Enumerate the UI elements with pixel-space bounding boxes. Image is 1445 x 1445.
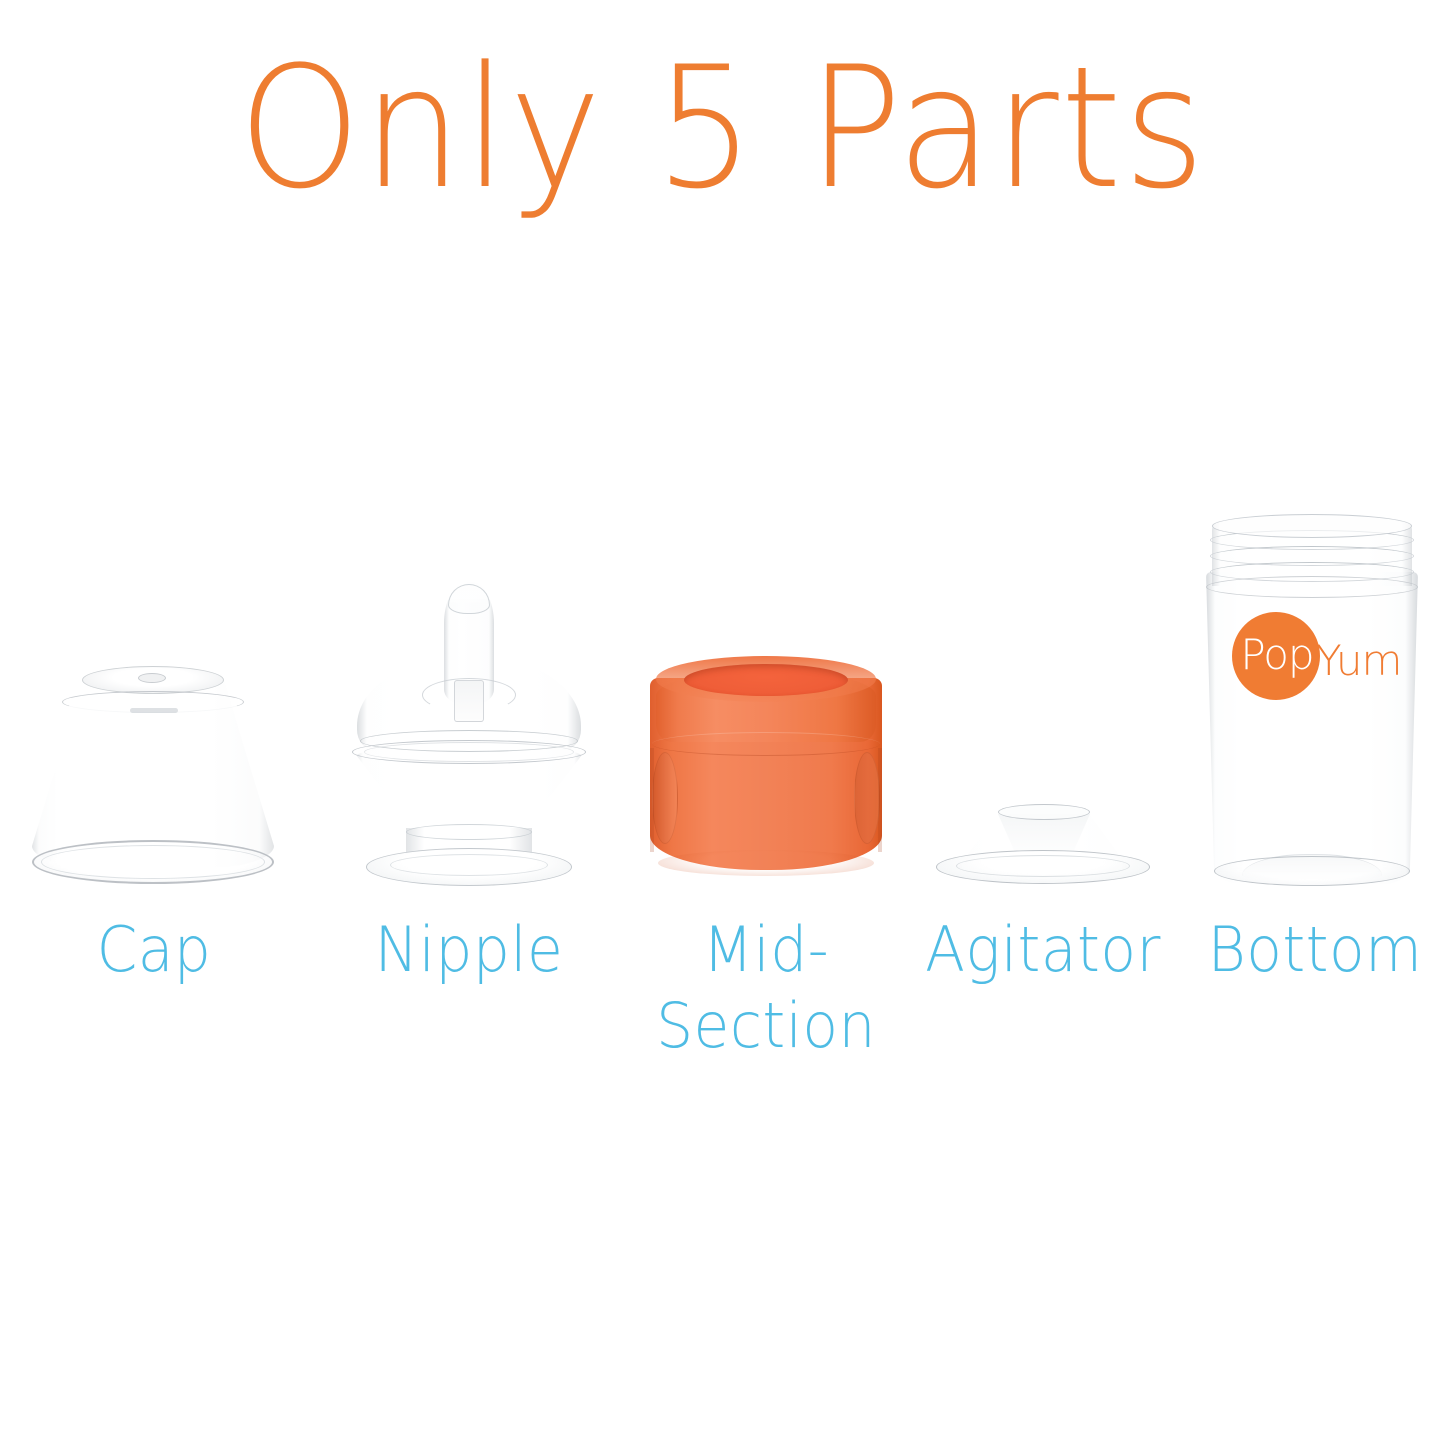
agitator-flange-inner <box>956 855 1130 877</box>
bottle-bottom-icon: Pop Yum <box>1196 520 1428 886</box>
nipple-base-inner-ring <box>390 854 548 876</box>
nipple-valve <box>454 680 484 722</box>
nipple-bowl-rim <box>352 740 586 764</box>
cap-vent-slot <box>130 708 178 713</box>
logo-wordmark-pop: Pop <box>1238 632 1316 678</box>
agitator-top-disc <box>998 804 1090 820</box>
bottle-nipple-icon <box>344 582 594 886</box>
mid-section-opening <box>684 664 848 696</box>
part-label-nipple: Nipple <box>337 912 600 988</box>
mid-section-collar-edge <box>652 732 880 756</box>
mid-section-grip-right <box>854 752 880 844</box>
cap-top-nub <box>138 673 166 683</box>
bottom-shoulder-line <box>1206 576 1418 598</box>
part-label-agitator: Agitator <box>911 912 1174 988</box>
part-label-mid-section: Mid-Section <box>648 912 885 1063</box>
bottle-mid-section-icon <box>650 656 882 886</box>
bottle-agitator-icon <box>936 806 1150 886</box>
logo-wordmark-yum: Yum <box>1316 638 1401 684</box>
part-label-cap: Cap <box>22 912 285 988</box>
popyum-logo: Pop Yum <box>1232 612 1400 700</box>
nipple-neck-line <box>406 824 532 840</box>
infographic-canvas: Only 5 Parts Cap Nipple <box>0 0 1445 1445</box>
mid-section-base-shade <box>658 850 874 876</box>
mid-section-grip-left <box>652 752 678 844</box>
bottle-cap-icon <box>32 664 274 886</box>
page-title: Only 5 Parts <box>51 44 1395 212</box>
bottom-base-rim <box>1214 856 1410 886</box>
cap-inner-rim <box>41 845 265 879</box>
part-label-bottom: Bottom <box>1193 912 1437 988</box>
bottom-mouth-rim <box>1212 514 1412 538</box>
